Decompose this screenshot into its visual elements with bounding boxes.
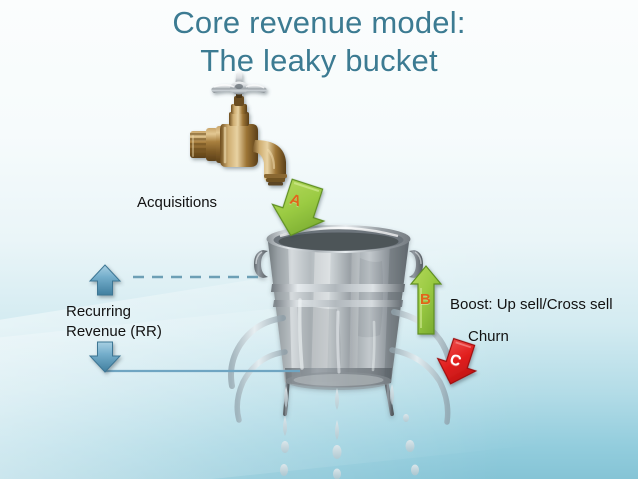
rr-up-arrow[interactable]	[90, 265, 120, 295]
rr-down-arrow[interactable]	[90, 342, 120, 372]
faucet-nozzle	[264, 174, 287, 186]
faucet-graphic	[190, 72, 287, 186]
illustration-layer	[0, 0, 638, 479]
water-jet-left-lower	[237, 352, 285, 420]
label-churn: Churn	[468, 327, 509, 347]
label-acquisitions: Acquisitions	[137, 193, 217, 213]
faucet-bonnet	[229, 90, 249, 126]
label-boost-upsell-crosssell: Boost: Up sell/Cross sell	[450, 295, 613, 315]
faucet-inlet-pipe	[190, 126, 225, 163]
bucket-rib-upper	[271, 284, 405, 292]
bucket-rib-lower	[273, 300, 403, 307]
water-drips	[280, 384, 419, 479]
slide-canvas: Core revenue model: The leaky bucket	[0, 0, 638, 479]
faucet-handle	[211, 72, 266, 95]
label-recurring-revenue: Recurring Revenue (RR)	[66, 302, 162, 342]
